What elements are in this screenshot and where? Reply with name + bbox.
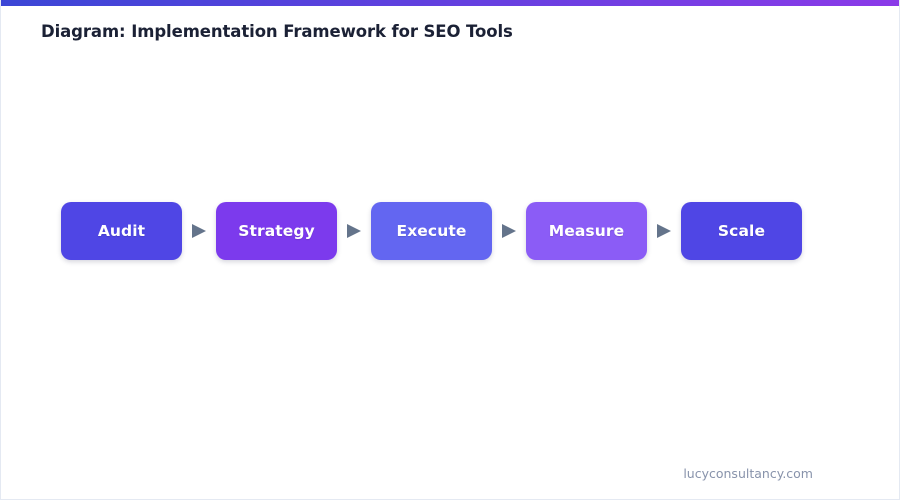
flow-node-measure[interactable]: Measure (526, 202, 647, 260)
flow-node-strategy[interactable]: Strategy (216, 202, 337, 260)
flow-node-label: Measure (549, 222, 625, 240)
triangle-right-icon (337, 223, 371, 239)
footer-url: lucyconsultancy.com (683, 466, 813, 481)
flow-node-execute[interactable]: Execute (371, 202, 492, 260)
triangle-right-icon (182, 223, 216, 239)
top-accent-bar (1, 0, 900, 6)
diagram-canvas: Diagram: Implementation Framework for SE… (0, 0, 900, 500)
flow-node-label: Execute (397, 222, 467, 240)
flow-node-label: Scale (718, 222, 765, 240)
flow-node-audit[interactable]: Audit (61, 202, 182, 260)
flow-node-label: Audit (98, 222, 145, 240)
triangle-right-icon (492, 223, 526, 239)
triangle-right-icon (647, 223, 681, 239)
flow-node-scale[interactable]: Scale (681, 202, 802, 260)
page-title: Diagram: Implementation Framework for SE… (41, 22, 513, 41)
process-flow: AuditStrategyExecuteMeasureScale (61, 202, 802, 260)
flow-node-label: Strategy (238, 222, 315, 240)
